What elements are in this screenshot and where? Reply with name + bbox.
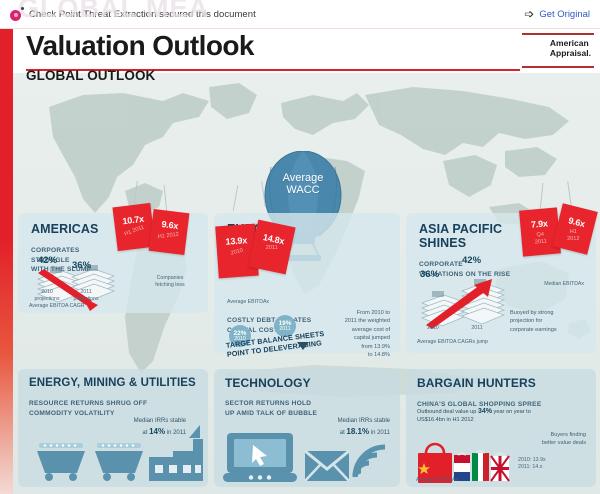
share-arrow-icon: ➩ — [524, 8, 534, 20]
world-map-canvas: Average WACC AMERICAS CORPORATES STRUGGL… — [13, 73, 600, 494]
infographic-page: GLOBAL MEA Check Point Threat Extraction… — [0, 0, 600, 494]
europe-tag-1-label: 2011 — [253, 245, 291, 252]
asia-stack-graphic — [418, 275, 514, 331]
asia-axis-caption: Average EBITDA CAGRs jump — [417, 339, 488, 345]
panel-bargain-title: BARGAIN HUNTERS — [417, 377, 536, 390]
panel-technology: TECHNOLOGY SECTOR RETURNS HOLD UP AMID T… — [214, 369, 400, 487]
asia-tag-1-label: H1 2012 — [555, 229, 591, 243]
americas-pct-1: 36% — [72, 260, 91, 271]
brand-rule-bottom — [522, 66, 594, 68]
flag-italy-icon — [472, 451, 489, 481]
brand-line-2: Appraisal. — [550, 48, 591, 58]
brand-logo: American Appraisal. — [550, 38, 591, 58]
americas-tag-1: 9.6x H1 2012 — [149, 209, 190, 255]
flag-uk-icon — [491, 453, 509, 481]
mine-cart-icon — [95, 443, 143, 481]
technology-icons-graphic — [223, 431, 393, 483]
europe-down-marker-icon — [296, 341, 310, 351]
europe-tag-caption: Average EBITDAx — [227, 299, 269, 305]
brand-line-1: American — [550, 38, 591, 48]
brand-rule-top — [522, 33, 594, 35]
bargain-body-line2: US$16.4bn in H1 2012 — [417, 417, 587, 425]
asia-pct-1: 42% — [462, 255, 481, 266]
get-original-link[interactable]: Get Original — [539, 9, 590, 20]
threat-extraction-banner: GLOBAL MEA Check Point Threat Extraction… — [0, 0, 600, 29]
laptop-cursor-icon — [223, 433, 297, 482]
asia-stat-label-1: 2011 — [462, 325, 492, 332]
panel-technology-subtitle: SECTOR RETURNS HOLD UP AMID TALK OF BUBB… — [225, 399, 365, 418]
asia-pct-0: 36% — [420, 269, 439, 280]
envelope-icon — [305, 451, 349, 481]
americas-tag-1-label: H1 2012 — [150, 231, 187, 242]
page-header: Valuation Outlook American Appraisal. — [13, 29, 600, 73]
asia-tag-0-value: 7.9x — [520, 218, 559, 231]
checkpoint-shield-icon — [10, 8, 23, 21]
asia-tag-caption: Median EBITDAx — [544, 281, 584, 287]
page-title: Valuation Outlook — [26, 30, 254, 62]
panel-bargain-hunters: BARGAIN HUNTERS CHINA'S GLOBAL SHOPPING … — [406, 369, 596, 487]
energy-kpi-pre: Median IRRs stable — [94, 417, 186, 426]
page-subtitle: GLOBAL OUTLOOK — [26, 68, 155, 83]
americas-axis-caption: Average EBITDA CAGR — [29, 303, 85, 309]
wifi-icon — [355, 447, 385, 477]
banner-message: Check Point Threat Extraction secured th… — [29, 9, 256, 20]
panel-energy: ENERGY, MINING & UTILITIES RESOURCE RETU… — [18, 369, 208, 487]
americas-stat-label-0: 2010 projections — [30, 289, 64, 302]
left-red-rail — [0, 29, 13, 494]
energy-icons-graphic — [27, 435, 203, 483]
europe-body-text: From 2010 to 2011 the weighted average c… — [318, 309, 390, 359]
bargain-body-pre: Outbound deal value up — [417, 409, 478, 415]
americas-tag-caption: Companies fetching less — [142, 275, 198, 289]
americas-stat-label-1: 2011 projections — [68, 289, 104, 302]
factory-icon — [149, 439, 203, 481]
panel-americas-title: AMERICAS — [31, 222, 98, 236]
bargain-axis-caption: Average EBITDAx — [416, 477, 458, 483]
bargain-body-value: 34% — [478, 408, 492, 415]
panel-energy-subtitle: RESOURCE RETURNS SHRUG OFF COMMODITY VOL… — [29, 399, 179, 418]
americas-pct-0: 42% — [38, 255, 57, 266]
bargain-callout: Buyers finding better value deals — [500, 431, 586, 448]
panel-bargain-body: Outbound deal value up 34% year on year … — [417, 407, 587, 425]
europe-circle-1-label: 2011 — [279, 327, 290, 333]
technology-kpi-pre: Median IRRs stable — [294, 417, 390, 426]
asia-stat-label-0: 2010 — [418, 325, 448, 332]
mine-cart-icon — [37, 443, 85, 481]
bargain-body-post: year on year to — [492, 409, 531, 415]
asia-callout: Buoyed by strong projection for corporat… — [510, 309, 592, 334]
panel-technology-title: TECHNOLOGY — [225, 377, 311, 390]
bargain-stats: 2010: 13.9x 2011: 14.x — [518, 457, 588, 471]
balloon-label: Average WACC — [263, 173, 343, 197]
balloon-label-line2: WACC — [263, 185, 343, 197]
panel-energy-title: ENERGY, MINING & UTILITIES — [29, 377, 196, 390]
